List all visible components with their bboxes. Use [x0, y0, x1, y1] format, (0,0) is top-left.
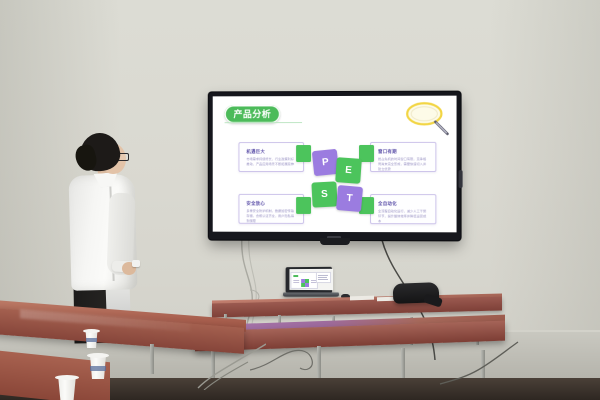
slide-box-top-right: 窗口有期 抢占先机的时间窗口有限，竞争格局尚未完全形成，需要快速切入并建立优势 — [370, 142, 436, 172]
puzzle-piece-e: E — [335, 157, 362, 184]
slide-box-heading: 窗口有期 — [378, 149, 397, 155]
mini-box-line — [293, 281, 299, 282]
tv-wall-mount — [320, 238, 350, 245]
slide-title-underline — [225, 122, 302, 123]
paper-cup-1-band — [90, 366, 106, 371]
notes-line — [318, 277, 327, 278]
presentation-slide: 产品分析 机遇巨大 市场需求持续增长，行业政 — [213, 96, 457, 233]
slide-box-heading: 机遇巨大 — [246, 149, 265, 155]
photo-scene: 产品分析 机遇巨大 市场需求持续增长，行业政 — [0, 0, 600, 400]
puzzle-letter: P — [322, 157, 330, 169]
laptop-current-slide-pane — [290, 271, 318, 288]
slide-box-body: 市场需求持续增长，行业政策利好推动，产品应用场景不断拓展延伸 — [246, 157, 297, 167]
floor-cable-3 — [430, 340, 520, 393]
presenter-remote[interactable] — [132, 260, 140, 267]
mini-box-line — [293, 280, 299, 281]
slide-box-heading: 安全放心 — [246, 201, 265, 207]
wall-shadow-right — [490, 0, 600, 330]
slide-title: 产品分析 — [225, 105, 281, 123]
slide-box-body: 多重安全防护机制，数据加密传输存储，合规认证齐全，用户隐私得到保障 — [246, 209, 297, 223]
tv-side-button[interactable] — [459, 170, 463, 188]
notes-line — [318, 275, 328, 276]
puzzle-piece-s: S — [311, 181, 337, 207]
slide-box-body: 抢占先机的时间窗口有限，竞争格局尚未完全形成，需要快速切入并建立优势 — [378, 157, 429, 171]
laptop-lid — [286, 267, 332, 293]
tv-screen: 产品分析 机遇巨大 市场需求持续增长，行业政 — [213, 96, 457, 233]
notes-line — [318, 279, 328, 280]
laptop-screen — [289, 269, 333, 290]
puzzle-letter: T — [346, 193, 353, 205]
slide-box-heading: 全自动化 — [378, 201, 397, 207]
laptop-notes-pane — [316, 272, 331, 283]
presenter-laptop[interactable] — [283, 267, 339, 301]
pest-puzzle-graphic: P E S T — [310, 142, 364, 224]
puzzle-letter: E — [345, 165, 352, 176]
mini-slide-title — [293, 275, 298, 277]
puzzle-letter: S — [321, 189, 328, 200]
wall-mounted-tv: 产品分析 机遇巨大 市场需求持续增长，行业政 — [209, 92, 461, 241]
slide-box-body: 全流程自动化运行，减少人工干预环节，提升整体效率并降低运营成本 — [378, 209, 429, 223]
slide-box-bottom-right: 全自动化 全流程自动化运行，减少人工干预环节，提升整体效率并降低运营成本 — [370, 194, 436, 224]
paper-cup-3-band — [86, 338, 97, 342]
laptop-keyboard-base[interactable] — [283, 292, 340, 296]
paper-cup-1-rim — [87, 353, 109, 358]
floor-cable-2 — [250, 326, 330, 379]
slide-chip-top-left — [296, 145, 311, 162]
slide-box-bottom-left: 安全放心 多重安全防护机制，数据加密传输存储，合规认证齐全，用户隐私得到保障 — [238, 194, 304, 224]
slide-box-top-left: 机遇巨大 市场需求持续增长，行业政策利好推动，产品应用场景不断拓展延伸 — [238, 142, 304, 172]
magnifier-icon — [402, 101, 450, 141]
puzzle-piece-t: T — [336, 185, 363, 212]
paper-sheet — [350, 296, 374, 301]
slide-chip-bottom-left — [296, 197, 311, 214]
paper-cup-2-rim — [55, 375, 79, 380]
paper-cup-3-rim — [83, 329, 100, 333]
mini-puzzle-t — [305, 282, 309, 286]
